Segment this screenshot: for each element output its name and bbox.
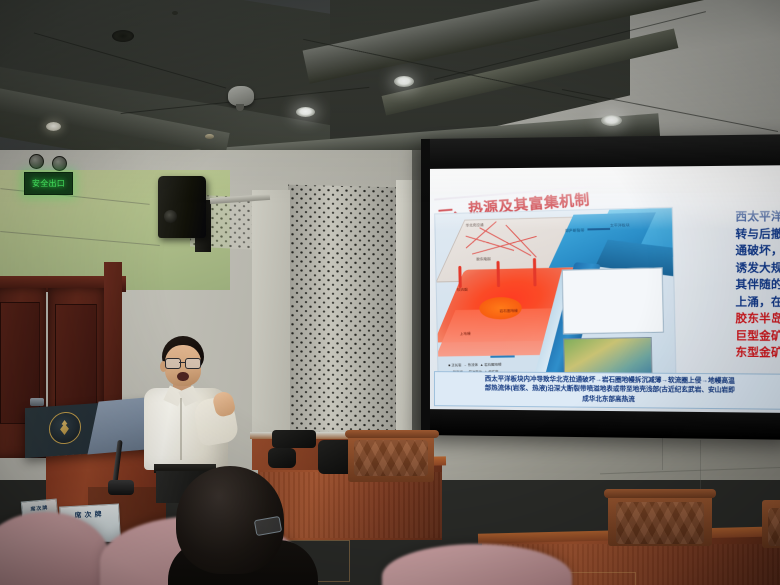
emergency-light <box>52 156 67 171</box>
slide-top-band <box>430 165 780 195</box>
ceiling-downlight <box>46 122 61 131</box>
slide-text-line-highlight: 东型金矿 <box>735 345 780 362</box>
slide-text-line: 上涌，在其 <box>735 294 780 311</box>
slide-caption: 西太平洋板块内冲导致华北克拉通破坏→岩石圈地幔拆沉减薄→软流圈上侵→地幔高温 部… <box>434 371 780 410</box>
slide-text-line: 通破坏，其 <box>735 243 780 260</box>
speaker-cone <box>164 210 177 223</box>
sprinkler-head <box>205 134 214 139</box>
slide-text-line: 转与后撤驱 <box>735 226 780 243</box>
diagram-fluid-plume <box>533 258 537 286</box>
projection-screen[interactable]: 一、热源及其富集机制 <box>421 134 780 440</box>
diagram-fluid-plume <box>496 261 500 287</box>
microphone-base <box>108 480 134 495</box>
slide-text-line-highlight: 胶东半岛形 <box>735 311 780 328</box>
emergency-light <box>29 154 44 169</box>
conference-chair[interactable] <box>354 440 428 476</box>
ceiling-downlight <box>601 115 622 126</box>
diagram-fluid-plume <box>458 266 461 288</box>
screen-bezel-top <box>421 134 780 169</box>
ceiling-vent <box>112 30 134 42</box>
slide-text-line-highlight: 巨型金矿省 <box>735 328 780 345</box>
screen-bezel-left <box>421 139 430 435</box>
equipment-case <box>268 448 296 468</box>
tectonic-cross-section-diagram: 华北克拉通 胶东隆起 太平洋板块 郯庐断裂带 软流圈 岩石圈地幔 上地幔 ■ 正… <box>434 207 676 388</box>
ceiling-downlight <box>394 76 414 87</box>
ceiling-speaker <box>228 86 254 106</box>
lecture-hall-photo: 安全出口 一、热源及其富集机制 <box>0 0 780 585</box>
screen-bezel-bottom <box>421 409 780 440</box>
slide-text-line: 诱发大规模 <box>735 260 780 277</box>
slide-right-text-column: 西太平洋板 转与后撤驱 通破坏，其 诱发大规模 其伴随的深 上涌，在其 胶东半岛… <box>735 209 780 374</box>
lectern-device <box>30 398 44 406</box>
diagram-flow-arrow <box>490 355 514 357</box>
equipment-case <box>272 430 316 448</box>
slide-text-line: 其伴随的深 <box>735 277 780 294</box>
ceiling-fixture <box>172 11 178 15</box>
conference-chair[interactable] <box>768 508 780 546</box>
eyeglasses-icon <box>165 358 201 367</box>
diagram-depth-inset <box>562 267 664 334</box>
presenter-mouth <box>177 372 189 381</box>
slide-surface: 一、热源及其富集机制 <box>430 165 780 413</box>
chair-crest-rail <box>345 430 439 438</box>
emergency-exit-sign: 安全出口 <box>24 172 73 195</box>
slide-text-line: 西太平洋板 <box>735 209 780 226</box>
conference-chair[interactable] <box>616 502 704 544</box>
chair-crest-rail <box>604 489 716 498</box>
acoustic-panel-shading <box>288 185 396 444</box>
presenter-shirt-placket <box>180 398 182 460</box>
exit-sign-label: 安全出口 <box>25 173 72 194</box>
ceiling-downlight <box>296 107 315 117</box>
wall-speaker <box>158 176 206 238</box>
